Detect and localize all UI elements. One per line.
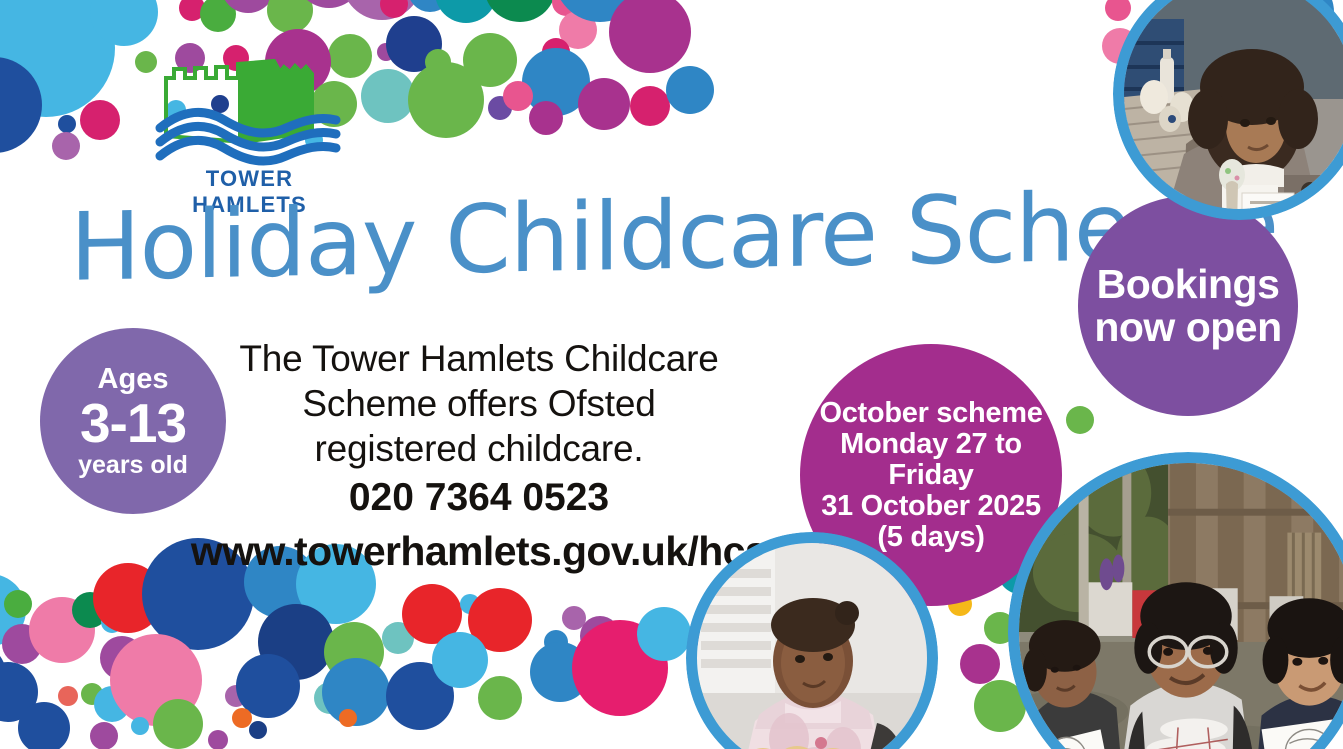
october-line-2: Monday 27 to — [840, 429, 1022, 460]
confetti-dot — [110, 634, 202, 726]
confetti-dot — [342, 0, 422, 20]
confetti-dot — [81, 683, 103, 705]
confetti-dot — [572, 620, 668, 716]
confetti-dot — [0, 57, 42, 153]
confetti-dot — [131, 717, 149, 735]
confetti-dot — [554, 0, 646, 22]
confetti-dot — [322, 658, 390, 726]
website-url[interactable]: www.towerhamlets.gov.uk/hcs — [170, 525, 788, 577]
confetti-dot — [562, 606, 586, 630]
confetti-dot — [146, 650, 174, 678]
badge-bookings-now-open: Bookings now open — [1078, 196, 1298, 416]
confetti-dot — [361, 69, 415, 123]
confetti-dot — [236, 654, 300, 718]
body-line-1: The Tower Hamlets Childcare — [170, 336, 788, 381]
confetti-dot — [67, 0, 109, 35]
confetti-dot — [463, 33, 517, 87]
confetti-dot — [542, 38, 570, 66]
confetti-dot — [80, 100, 120, 140]
ages-range: 3-13 — [80, 395, 186, 451]
confetti-dot — [100, 636, 144, 680]
confetti-dot — [208, 730, 228, 749]
confetti-dot — [225, 685, 247, 707]
confetti-dot — [530, 642, 590, 702]
ages-label: Ages — [98, 364, 169, 395]
confetti-dot — [101, 611, 123, 633]
ages-unit: years old — [78, 451, 188, 479]
confetti-dot — [94, 686, 130, 722]
confetti-dot — [382, 622, 414, 654]
confetti-dot — [544, 630, 568, 654]
confetti-dot — [402, 584, 462, 644]
confetti-dot — [4, 590, 32, 618]
bookings-line-2: now open — [1094, 306, 1281, 349]
confetti-dot — [179, 0, 205, 21]
october-line-3: Friday — [888, 460, 973, 491]
page-title: Holiday Childcare Scheme — [70, 182, 1080, 295]
confetti-dot — [529, 101, 563, 135]
body-line-3: registered childcare. — [170, 426, 788, 471]
confetti-dot — [18, 702, 70, 749]
confetti-dot — [488, 96, 512, 120]
confetti-dot — [164, 582, 188, 606]
confetti-dot — [522, 48, 590, 116]
confetti-dot — [552, 0, 580, 16]
confetti-dot — [0, 0, 66, 24]
confetti-dot — [580, 616, 620, 656]
october-line-4: 31 October 2025 — [821, 491, 1041, 522]
october-line-5: (5 days) — [877, 522, 984, 553]
confetti-dot — [503, 81, 533, 111]
confetti-dot — [324, 622, 384, 682]
confetti-dot — [609, 0, 691, 73]
confetti-dot — [432, 632, 488, 688]
phone-number[interactable]: 020 7364 0523 — [170, 471, 788, 525]
confetti-dot — [478, 676, 522, 720]
confetti-dot — [72, 592, 108, 628]
confetti-dot — [0, 0, 115, 117]
confetti-dot — [339, 709, 357, 727]
confetti-dot — [666, 66, 714, 114]
confetti-dot — [29, 597, 95, 663]
confetti-dot — [58, 686, 78, 706]
confetti-dot — [0, 644, 6, 704]
body-copy: The Tower Hamlets Childcare Scheme offer… — [170, 336, 788, 577]
confetti-dot — [0, 574, 26, 646]
confetti-dot — [249, 721, 267, 739]
confetti-dot — [408, 62, 484, 138]
confetti-dot — [267, 0, 313, 33]
confetti-dot — [386, 16, 442, 72]
confetti-dot — [468, 588, 532, 652]
confetti-dot — [0, 662, 38, 722]
confetti-dot — [295, 0, 363, 8]
holiday-childcare-scheme-poster: TOWER HAMLETS Holiday Childcare Scheme T… — [0, 0, 1343, 749]
bookings-line-1: Bookings — [1097, 263, 1280, 306]
confetti-dot — [460, 594, 480, 614]
confetti-dot — [200, 0, 236, 32]
tower-hamlets-logo-mark — [152, 58, 347, 168]
tower-hamlets-logo: TOWER HAMLETS — [152, 58, 347, 198]
confetti-dot — [0, 65, 25, 99]
confetti-dot — [1105, 0, 1131, 21]
confetti-dot — [258, 604, 334, 680]
confetti-dot — [1066, 406, 1094, 434]
confetti-dot — [484, 0, 556, 22]
october-line-1: October scheme — [819, 398, 1042, 429]
confetti-dot — [153, 699, 203, 749]
confetti-dot — [380, 0, 408, 18]
confetti-dot — [559, 11, 597, 49]
confetti-dot — [0, 28, 12, 88]
confetti-dot — [221, 0, 275, 13]
confetti-dot — [2, 624, 42, 664]
confetti-dot — [630, 86, 670, 126]
confetti-dot — [93, 563, 163, 633]
confetti-dot — [90, 722, 118, 749]
confetti-dot — [637, 607, 691, 661]
confetti-dot — [90, 0, 158, 46]
confetti-dot — [314, 682, 346, 714]
body-line-2: Scheme offers Ofsted — [170, 381, 788, 426]
confetti-dot — [52, 132, 80, 160]
confetti-dot — [960, 644, 1000, 684]
confetti-dot — [425, 49, 451, 75]
confetti-dot — [408, 0, 452, 12]
confetti-dot — [386, 662, 454, 730]
confetti-dot — [232, 708, 252, 728]
badge-ages: Ages 3-13 years old — [40, 328, 226, 514]
confetti-dot — [435, 0, 497, 23]
confetti-dot — [377, 43, 395, 61]
confetti-dot — [58, 115, 76, 133]
confetti-dot — [578, 78, 630, 130]
